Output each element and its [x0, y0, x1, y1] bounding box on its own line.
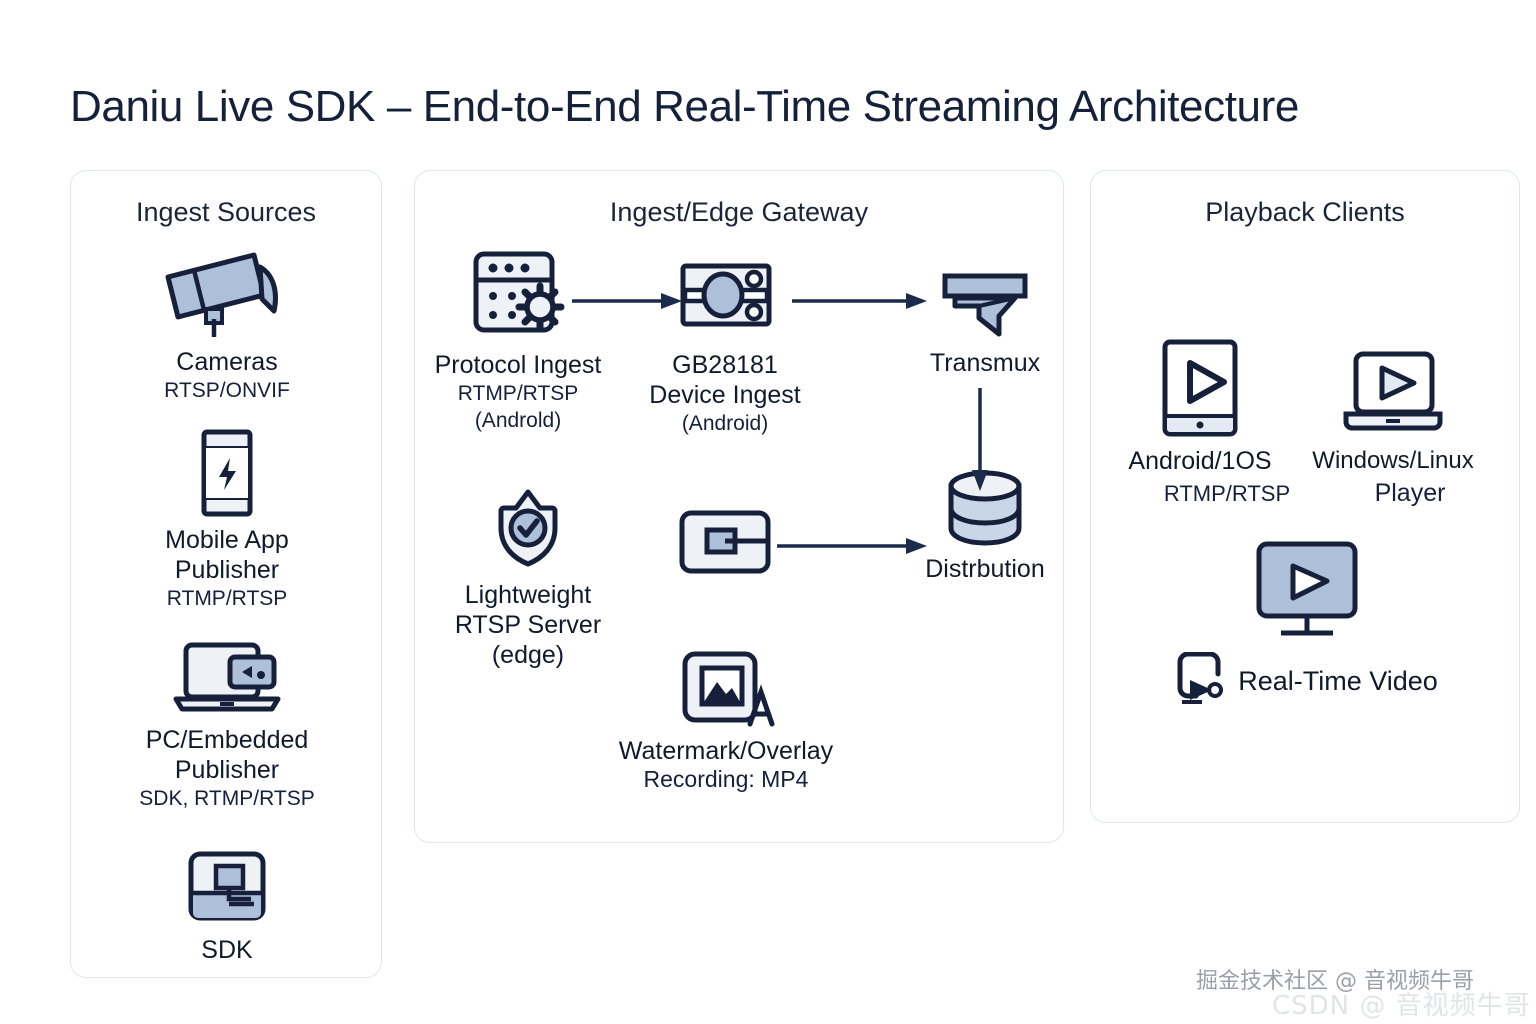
node-watermark-overlay: Watermark/Overlay Recording: MP4: [570, 648, 882, 793]
node-sublabel: SDK, RTMP/RTSP: [71, 785, 383, 812]
arrow-device-to-transmux: [790, 288, 930, 314]
monitor-play-icon: [1150, 540, 1460, 640]
node-label: Cameras: [71, 347, 383, 377]
node-sublabel: Recording: MP4: [570, 766, 882, 793]
node-protocol-ingest: Protocol Ingest RTMP/RTSP (Androld): [420, 250, 616, 434]
node-label: Transmux: [890, 348, 1080, 378]
node-gb28181-device-ingest: GB28181 Device Ingest (Android): [625, 250, 825, 437]
node-label: Windows/Linux: [1296, 446, 1490, 476]
node-sublabel: RTMP/RTSP: [71, 585, 383, 612]
panel-title-ingest-sources: Ingest Sources: [71, 197, 381, 228]
node-label: Watermark/Overlay: [570, 736, 882, 766]
node-android-ios-client: Android/1OS RTMP/RTSP: [1108, 338, 1292, 507]
node-real-time-video: Real-Time Video: [1150, 540, 1460, 709]
node-lightweight-rtsp-server: Lightweight RTSP Server (edge): [430, 488, 626, 670]
node-label: Real-Time Video: [1238, 666, 1438, 696]
laptop-screen-icon: [71, 639, 383, 717]
mobile-phone-icon: [71, 429, 383, 517]
node-sublabel: RTMP/RTSP (Androld): [420, 380, 616, 434]
sdk-module-icon: [71, 849, 383, 927]
video-badge-icon: [1172, 652, 1226, 709]
node-label: Mobile App Publisher: [71, 525, 383, 585]
arrow-transmux-to-distribution: [965, 388, 995, 492]
panel-ingest-sources: Ingest Sources Cameras RTSP/ONVIF: [70, 170, 382, 978]
tablet-play-icon: [1108, 338, 1292, 438]
node-label: Android/1OS: [1108, 446, 1292, 476]
shield-check-icon: [430, 488, 626, 568]
node-label: SDK: [71, 935, 383, 965]
watermark-secondary: CSDN @ 音视频牛哥: [1272, 985, 1531, 1022]
node-sublabel: RTSP/ONVIF: [71, 377, 383, 404]
panel-title-gateway: Ingest/Edge Gateway: [415, 197, 1063, 228]
node-label: PC/Embedded Publisher: [71, 725, 383, 785]
node-transmux: Transmux: [890, 268, 1080, 378]
arrow-pip-to-distribution: [775, 533, 930, 559]
node-pip-window: [675, 508, 775, 576]
image-text-icon: [570, 648, 882, 730]
node-sdk: SDK: [71, 849, 383, 965]
node-pc-embedded-publisher: PC/Embedded Publisher SDK, RTMP/RTSP: [71, 639, 383, 812]
node-cameras: Cameras RTSP/ONVIF: [71, 247, 383, 404]
node-label: GB28181 Device Ingest: [625, 350, 825, 410]
page-title: Daniu Live SDK – End-to-End Real-Time St…: [70, 82, 1299, 132]
panel-title-playback: Playback Clients: [1091, 197, 1519, 228]
node-windows-linux-client: Windows/Linux Player: [1296, 342, 1490, 507]
node-mobile-app-publisher: Mobile App Publisher RTMP/RTSP: [71, 429, 383, 612]
diagram-canvas: Daniu Live SDK – End-to-End Real-Time St…: [0, 0, 1536, 1024]
security-camera-icon: [71, 247, 383, 339]
laptop-play-icon: [1296, 342, 1490, 438]
node-label: Protocol Ingest: [420, 350, 616, 380]
node-sublabel: RTMP/RTSP: [1162, 480, 1292, 507]
arrow-protocol-to-device: [570, 288, 685, 314]
pip-window-icon: [675, 508, 775, 576]
node-sublabel: (Android): [625, 410, 825, 437]
node-sublabel: Player: [1330, 480, 1490, 507]
